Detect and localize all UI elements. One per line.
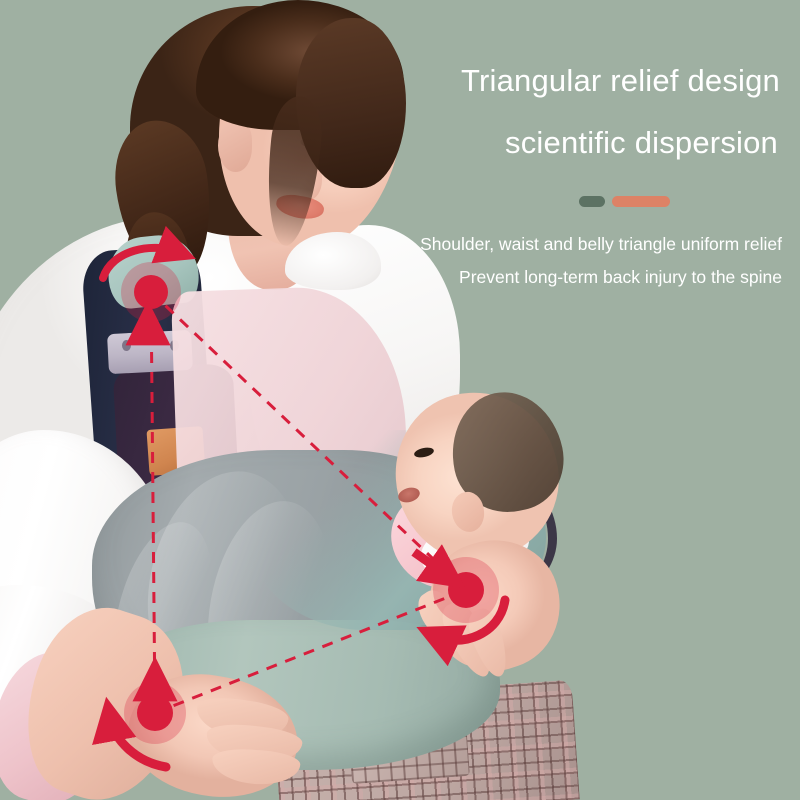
marker-shoulder [103, 248, 181, 342]
triangle-side-base [155, 590, 466, 713]
product-banner: Triangular relief design scientific disp… [0, 0, 800, 800]
subtitle-line-2: Prevent long-term back injury to the spi… [312, 261, 782, 294]
marker-belly [414, 552, 505, 640]
marker-dot [448, 572, 484, 608]
subtitles: Shoulder, waist and belly triangle unifo… [312, 228, 782, 294]
divider [579, 196, 670, 207]
divider-pill-green [579, 196, 605, 207]
divider-pill-coral [612, 196, 670, 207]
marker-dot [134, 275, 168, 309]
marker-waist [110, 678, 186, 767]
triangle-side-vertical [151, 292, 155, 713]
headline-line-2: scientific dispersion [350, 112, 780, 174]
triangle-dashed-lines [151, 292, 466, 713]
headline: Triangular relief design scientific disp… [350, 50, 780, 174]
subtitle-line-1: Shoulder, waist and belly triangle unifo… [312, 228, 782, 261]
headline-line-1: Triangular relief design [350, 50, 780, 112]
triangle-side-diagonal [151, 292, 466, 590]
marker-dot [137, 695, 173, 731]
